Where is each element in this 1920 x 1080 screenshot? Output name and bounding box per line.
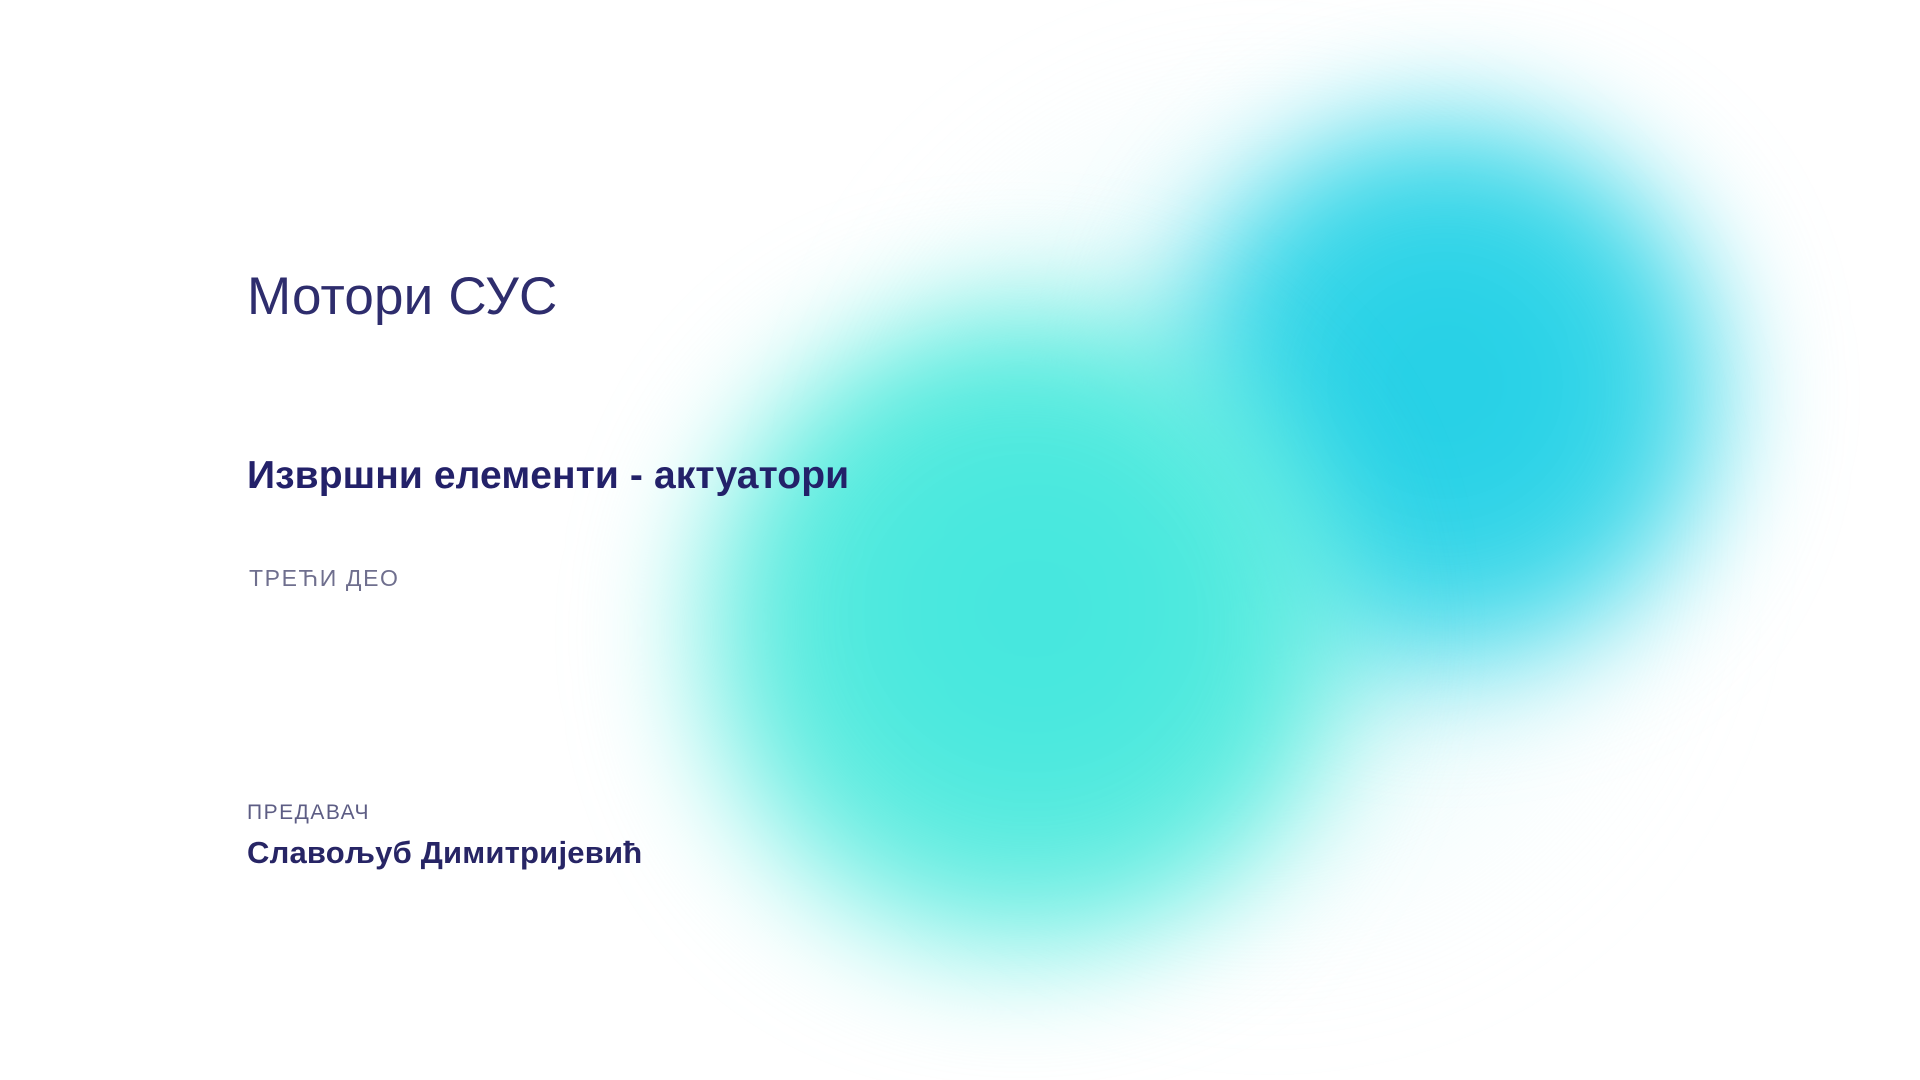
slide-text-block: Мотори СУС Извршни елементи - актуатори … — [247, 0, 1347, 1080]
presenter-group: ПРЕДАВАЧ Славољуб Димитријевић — [247, 800, 642, 871]
course-title: Мотори СУС — [247, 268, 557, 326]
lecture-title: Извршни елементи - актуатори — [247, 454, 849, 499]
presenter-role-label: ПРЕДАВАЧ — [247, 800, 642, 826]
presenter-name: Славољуб Димитријевић — [247, 834, 642, 871]
title-slide: Мотори СУС Извршни елементи - актуатори … — [0, 0, 1920, 1080]
part-label: ТРЕЋИ ДЕО — [249, 565, 400, 592]
